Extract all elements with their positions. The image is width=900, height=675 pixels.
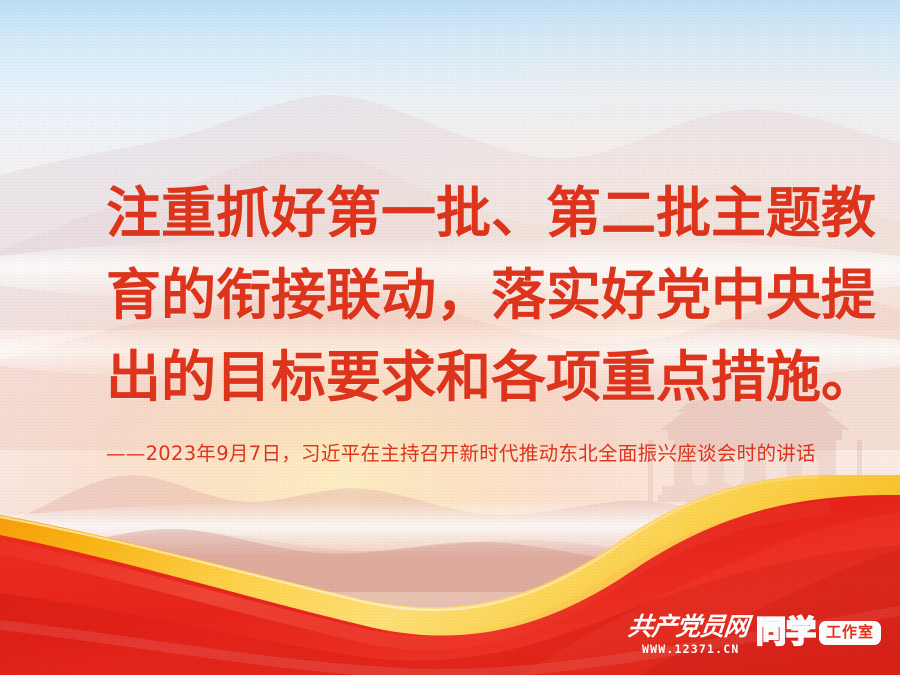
headline-line-1: 注重抓好第一批、第二批主题教 bbox=[106, 172, 846, 254]
poster-canvas: 注重抓好第一批、第二批主题教 育的衔接联动，落实好党中央提 出的目标要求和各项重… bbox=[0, 0, 900, 675]
site-name-text: 共产党员网 bbox=[627, 613, 750, 641]
attribution-text: ——2023年9月7日，习近平在主持召开新时代推动东北全面振兴座谈会时的讲话 bbox=[106, 438, 836, 469]
site-logo[interactable]: 共产党员网 WWW.12371.CN 同学 工作室 bbox=[628, 612, 878, 664]
mountain-layer-bottom bbox=[0, 470, 900, 610]
headline-block: 注重抓好第一批、第二批主题教 育的衔接联动，落实好党中央提 出的目标要求和各项重… bbox=[106, 172, 846, 418]
headline-line-2: 育的衔接联动，落实好党中央提 bbox=[106, 254, 846, 336]
headline-line-3: 出的目标要求和各项重点措施。 bbox=[106, 336, 846, 418]
studio-label-badge: 工作室 bbox=[819, 621, 881, 645]
logo-primary: 共产党员网 WWW.12371.CN bbox=[628, 612, 748, 656]
studio-brand-text: 同学 bbox=[756, 616, 816, 650]
studio-logo: 同学 工作室 bbox=[756, 612, 881, 650]
site-url-text: WWW.12371.CN bbox=[642, 642, 748, 656]
